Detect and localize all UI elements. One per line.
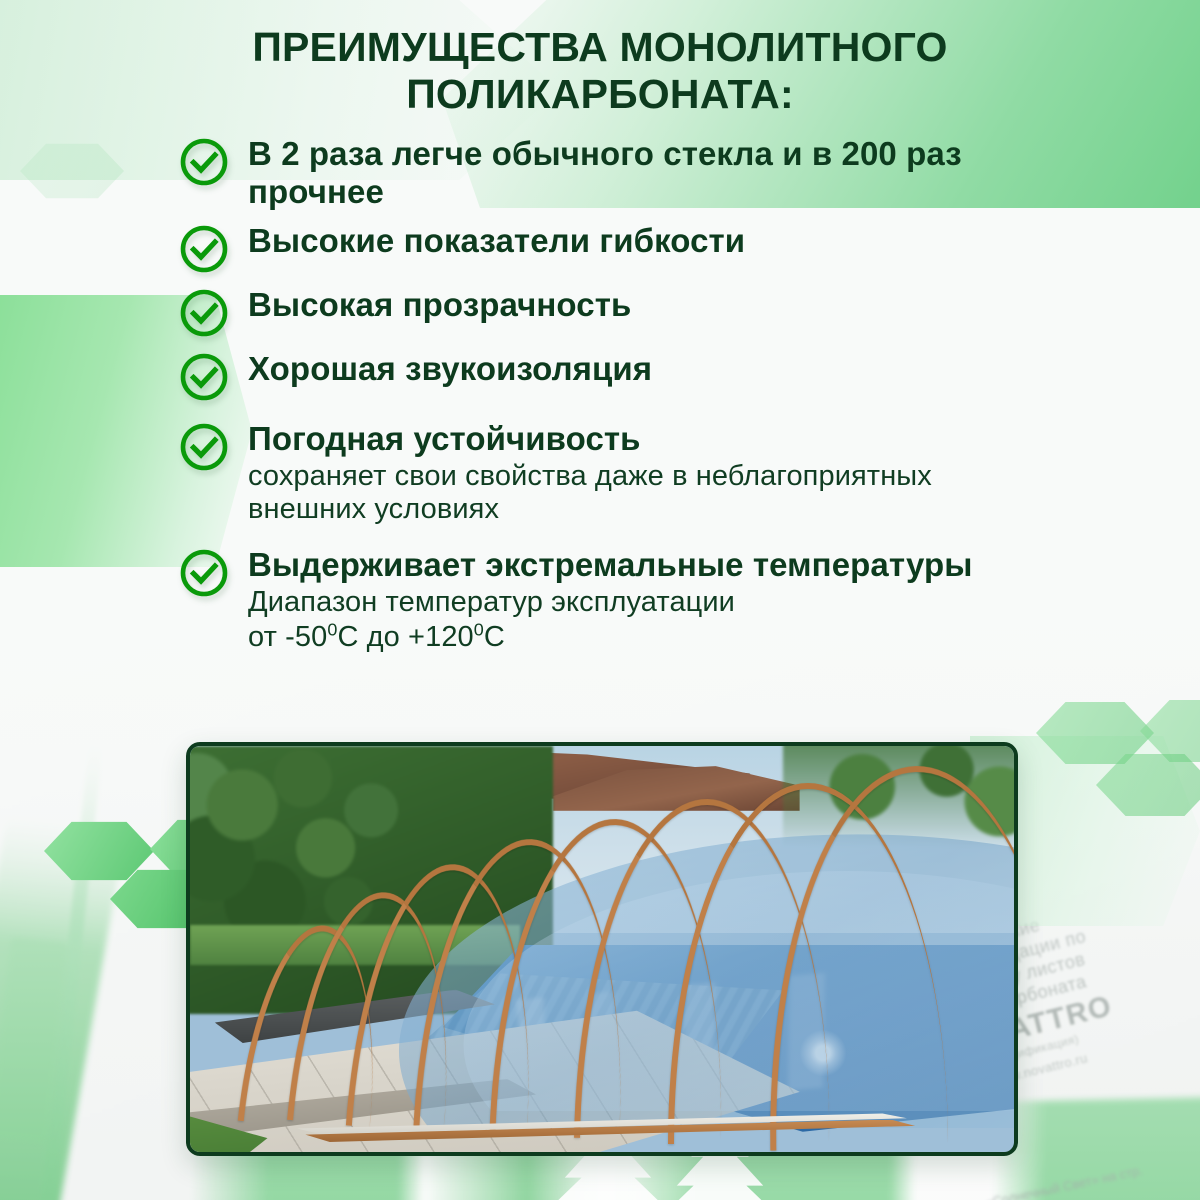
list-item-temperature-range: от -500С до +1200С — [248, 621, 1018, 654]
degree-symbol-low: 0 — [327, 619, 337, 639]
list-item-title: Высокая прозрачность — [248, 286, 631, 323]
list-item: Высокие показатели гибкости — [178, 221, 1018, 275]
list-item: Выдерживает экстремальные температуры Ди… — [178, 545, 1018, 653]
check-circle-icon — [178, 287, 230, 339]
list-item-title: В 2 раза легче обычного стекла и в 200 р… — [248, 135, 962, 210]
list-item-text: Высокие показатели гибкости — [248, 221, 1018, 260]
list-item: Высокая прозрачность — [178, 285, 1018, 339]
list-item-title: Высокие показатели гибкости — [248, 222, 745, 259]
list-item-subtitle: Диапазон температур эксплуатации — [248, 586, 1018, 619]
list-item-text: Выдерживает экстремальные температуры Ди… — [248, 545, 1018, 653]
content-layer: ПРЕИМУЩЕСТВА МОНОЛИТНОГО ПОЛИКАРБОНАТА: … — [0, 0, 1200, 1200]
list-item: Хорошая звукоизоляция — [178, 349, 1018, 403]
check-circle-icon — [178, 136, 230, 188]
list-item: В 2 раза легче обычного стекла и в 200 р… — [178, 134, 1018, 211]
list-item-text: Хорошая звукоизоляция — [248, 349, 1018, 388]
temp-range-post: С — [484, 621, 505, 653]
poster-root: Краткие рекомендации по монтажу листов п… — [0, 0, 1200, 1200]
pool-enclosure-photo — [186, 742, 1018, 1156]
list-item: Погодная устойчивость сохраняет свои сво… — [178, 419, 1018, 525]
temp-range-mid: С до +120 — [337, 621, 473, 653]
page-title: ПРЕИМУЩЕСТВА МОНОЛИТНОГО ПОЛИКАРБОНАТА: — [150, 24, 1050, 117]
list-item-subtitle: сохраняет свои свойства даже в неблагопр… — [248, 460, 1018, 526]
degree-symbol-high: 0 — [474, 619, 484, 639]
list-item-title: Выдерживает экстремальные температуры — [248, 546, 1018, 584]
check-circle-icon — [178, 223, 230, 275]
check-circle-icon — [178, 351, 230, 403]
list-item-title: Погодная устойчивость — [248, 420, 1018, 458]
list-item-text: Погодная устойчивость сохраняет свои сво… — [248, 419, 1018, 525]
list-item-text: В 2 раза легче обычного стекла и в 200 р… — [248, 134, 1018, 211]
temp-range-pre: от -50 — [248, 621, 327, 653]
photo-scene — [190, 746, 1014, 1152]
check-circle-icon — [178, 421, 230, 473]
benefits-list: В 2 раза легче обычного стекла и в 200 р… — [178, 134, 1018, 654]
list-item-title: Хорошая звукоизоляция — [248, 350, 652, 387]
list-item-text: Высокая прозрачность — [248, 285, 1018, 324]
check-circle-icon — [178, 547, 230, 599]
